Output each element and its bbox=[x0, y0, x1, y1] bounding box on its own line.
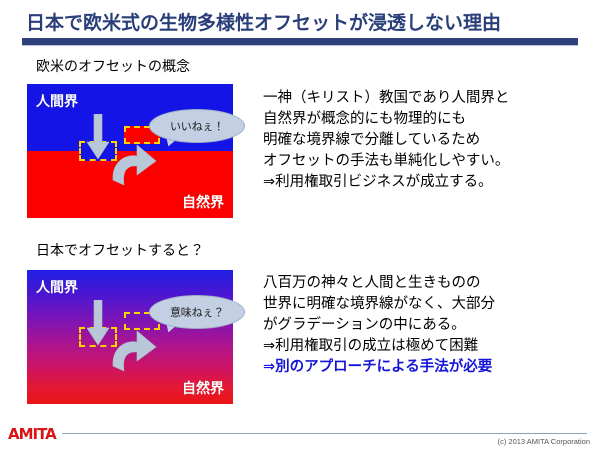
speech-bubble-body: 意味ねぇ？ bbox=[149, 295, 245, 329]
body-line: オフセットの手法も単純化しやすい。 bbox=[263, 151, 509, 172]
slide: 日本で欧米式の生物多様性オフセットが浸透しない理由 欧米のオフセットの概念 人間… bbox=[0, 0, 600, 450]
nature-world-label: 自然界 bbox=[182, 378, 224, 398]
amita-logo-text: AMITA bbox=[8, 427, 56, 442]
human-world-label: 人間界 bbox=[36, 277, 78, 297]
speech-bubble-body: いいねぇ！ bbox=[149, 109, 245, 143]
body-line: 自然界が概念的にも物理的にも bbox=[263, 109, 509, 130]
body-line: 明確な境界線で分離しているため bbox=[263, 130, 509, 151]
nature-world-label: 自然界 bbox=[182, 192, 224, 212]
down-arrow-icon bbox=[86, 300, 110, 346]
speech-bubble-japan: 意味ねぇ？ bbox=[149, 295, 245, 329]
amita-logo: AMITA bbox=[8, 426, 56, 442]
body-line: ⇒利用権取引の成立は極めて困難 bbox=[263, 336, 495, 357]
page-title: 日本で欧米式の生物多様性オフセットが浸透しない理由 bbox=[26, 8, 501, 35]
speech-bubble-western: いいねぇ！ bbox=[149, 109, 245, 143]
body-text-western: 一神（キリスト）教国であり人間界と 自然界が概念的にも物理的にも 明確な境界線で… bbox=[263, 88, 509, 193]
body-line: 八百万の神々と人間と生きものの bbox=[263, 273, 495, 294]
human-world-label: 人間界 bbox=[36, 91, 78, 111]
copyright-notice: (c) 2013 AMITA Corporation bbox=[498, 437, 590, 446]
curved-arrow-icon bbox=[111, 142, 159, 188]
down-arrow-icon bbox=[86, 114, 110, 160]
body-line-highlight: ⇒別のアプローチによる手法が必要 bbox=[263, 357, 495, 378]
body-line: 一神（キリスト）教国であり人間界と bbox=[263, 88, 509, 109]
diagram-japan-offset: 人間界 自然界 意味ねぇ？ bbox=[27, 270, 233, 404]
title-underline-bar bbox=[22, 38, 578, 46]
body-line-conclusion: ⇒利用権取引ビジネスが成立する。 bbox=[263, 172, 509, 193]
body-line: がグラデーションの中にある。 bbox=[263, 315, 495, 336]
section-heading-western: 欧米のオフセットの概念 bbox=[36, 56, 190, 76]
section-heading-japan: 日本でオフセットすると？ bbox=[36, 240, 204, 260]
body-text-japan: 八百万の神々と人間と生きものの 世界に明確な境界線がなく、大部分 がグラデーショ… bbox=[263, 273, 495, 378]
speech-bubble-text: いいねぇ！ bbox=[170, 118, 224, 134]
footer-divider bbox=[62, 433, 587, 434]
body-line: 世界に明確な境界線がなく、大部分 bbox=[263, 294, 495, 315]
speech-bubble-text: 意味ねぇ？ bbox=[170, 304, 224, 320]
curved-arrow-icon bbox=[111, 328, 159, 374]
diagram-western-offset: 人間界 自然界 いいねぇ！ bbox=[27, 84, 233, 218]
